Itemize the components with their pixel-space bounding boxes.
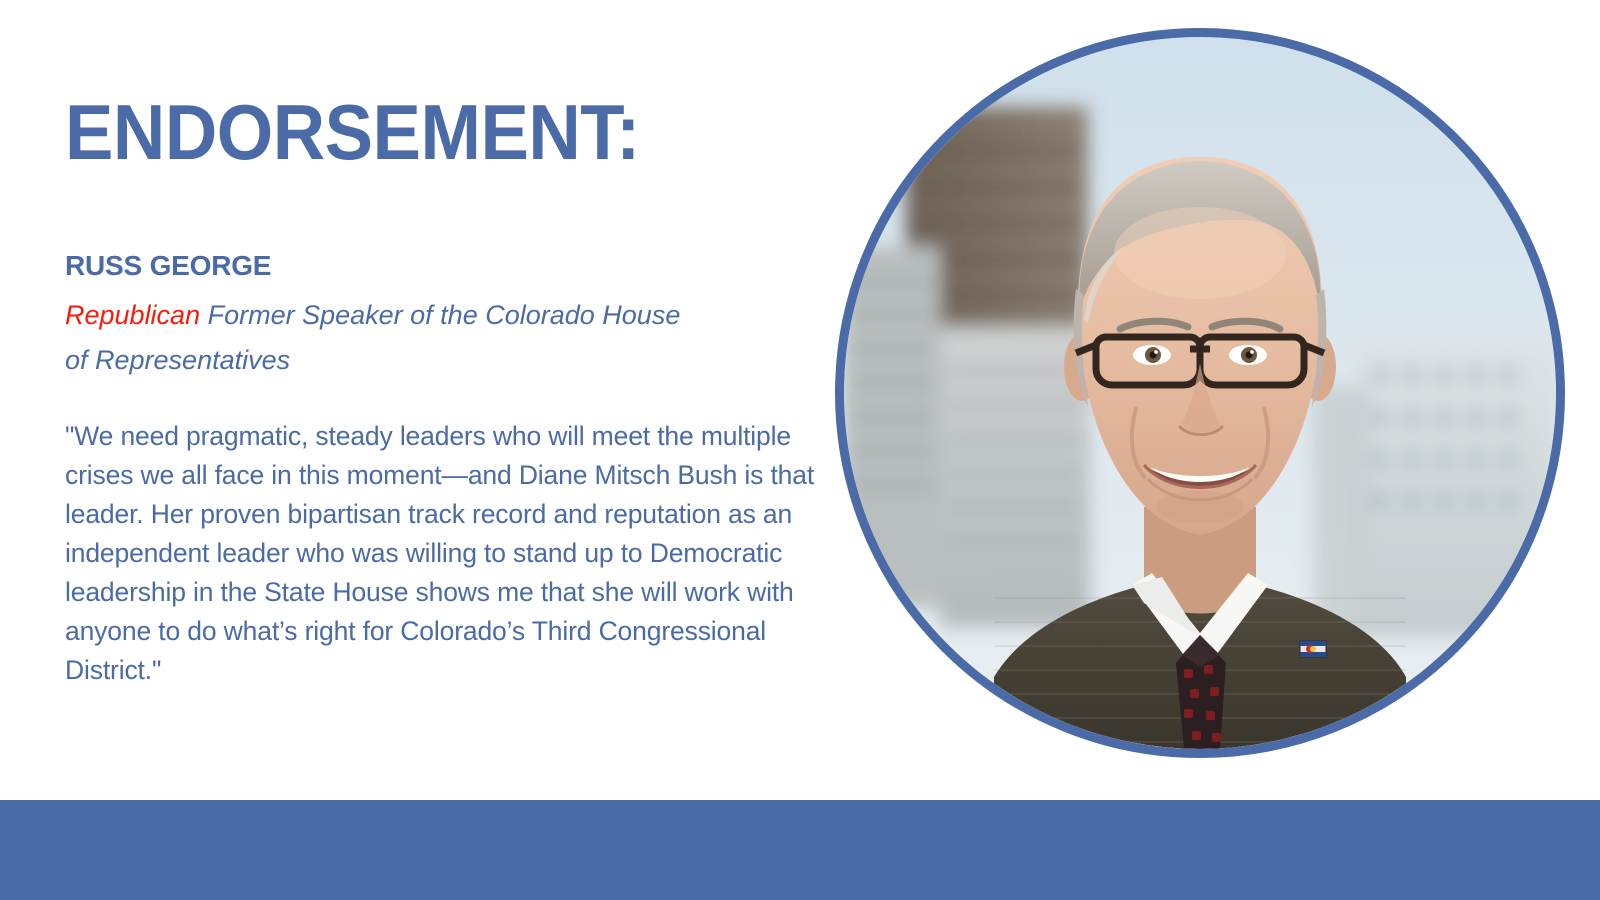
endorsement-quote: "We need pragmatic, steady leaders who w… bbox=[65, 417, 817, 690]
portrait-photo bbox=[844, 37, 1556, 749]
avatar bbox=[844, 37, 1556, 749]
lapel-pin-icon bbox=[1300, 641, 1326, 657]
footer-bar bbox=[0, 800, 1600, 900]
endorser-party: Republican bbox=[65, 300, 200, 330]
text-column: ENDORSEMENT: RUSS GEORGE Republican Form… bbox=[65, 0, 825, 800]
endorser-title: Republican Former Speaker of the Colorad… bbox=[65, 293, 685, 383]
portrait-frame bbox=[835, 28, 1565, 758]
page-title: ENDORSEMENT: bbox=[65, 93, 640, 171]
endorser-name: RUSS GEORGE bbox=[65, 248, 271, 284]
endorsement-graphic: ENDORSEMENT: RUSS GEORGE Republican Form… bbox=[0, 0, 1600, 900]
